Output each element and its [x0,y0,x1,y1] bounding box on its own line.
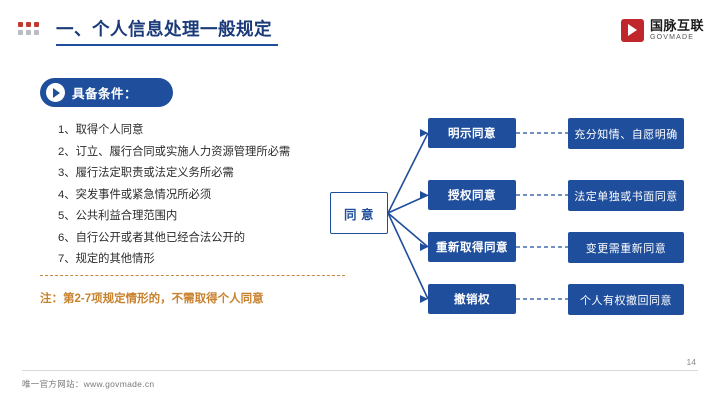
brand-logo: 国脉互联 GOVMADE [621,18,704,42]
note-text: 注：第2-7项规定情形的，不需取得个人同意 [40,290,264,306]
logo-company-name-en: GOVMADE [650,34,704,41]
decorative-dots-icon [18,22,48,36]
list-item: 2、订立、履行合同或实施人力资源管理所必需 [58,142,358,164]
slide-header: 一、个人信息处理一般规定 国脉互联 GOVMADE [0,0,720,55]
conditions-badge-label: 具备条件： [72,83,137,102]
consent-diagram: 同 意 明示同意 授权同意 重新取得同意 撤销权 充分知情、自愿明确 法定单独或… [325,100,705,340]
diagram-leaf-node: 充分知情、自愿明确 [568,118,684,149]
page-number: 14 [687,357,696,367]
logo-text: 国脉互联 GOVMADE [650,19,704,41]
diagram-leaf-node: 个人有权撤回同意 [568,284,684,315]
logo-company-name: 国脉互联 [650,19,704,32]
note-divider [40,275,345,276]
conditions-list: 1、取得个人同意 2、订立、履行合同或实施人力资源管理所必需 3、履行法定职责或… [58,120,358,271]
list-item: 3、履行法定职责或法定义务所必需 [58,163,358,185]
arrow-right-icon [46,83,65,102]
footer-divider [22,370,698,371]
page-title: 一、个人信息处理一般规定 [56,16,272,41]
diagram-leaf-node: 变更需重新同意 [568,232,684,263]
diagram-branch-node: 明示同意 [428,118,516,148]
diagram-root-node: 同 意 [330,192,388,234]
footer-site: 唯一官方网站：www.govmade.cn [22,378,154,390]
title-underline [56,44,278,46]
list-item: 4、突发事件或紧急情况所必须 [58,185,358,207]
slide: 一、个人信息处理一般规定 国脉互联 GOVMADE 具备条件： 1、取得个人同意… [0,0,720,405]
conditions-badge: 具备条件： [40,78,173,107]
list-item: 1、取得个人同意 [58,120,358,142]
logo-play-mark-icon [621,19,644,42]
list-item: 5、公共利益合理范围内 [58,206,358,228]
diagram-branch-node: 重新取得同意 [428,232,516,262]
diagram-leaf-node: 法定单独或书面同意 [568,180,684,211]
diagram-branch-node: 授权同意 [428,180,516,210]
diagram-branch-node: 撤销权 [428,284,516,314]
list-item: 6、自行公开或者其他已经合法公开的 [58,228,358,250]
list-item: 7、规定的其他情形 [58,249,358,271]
